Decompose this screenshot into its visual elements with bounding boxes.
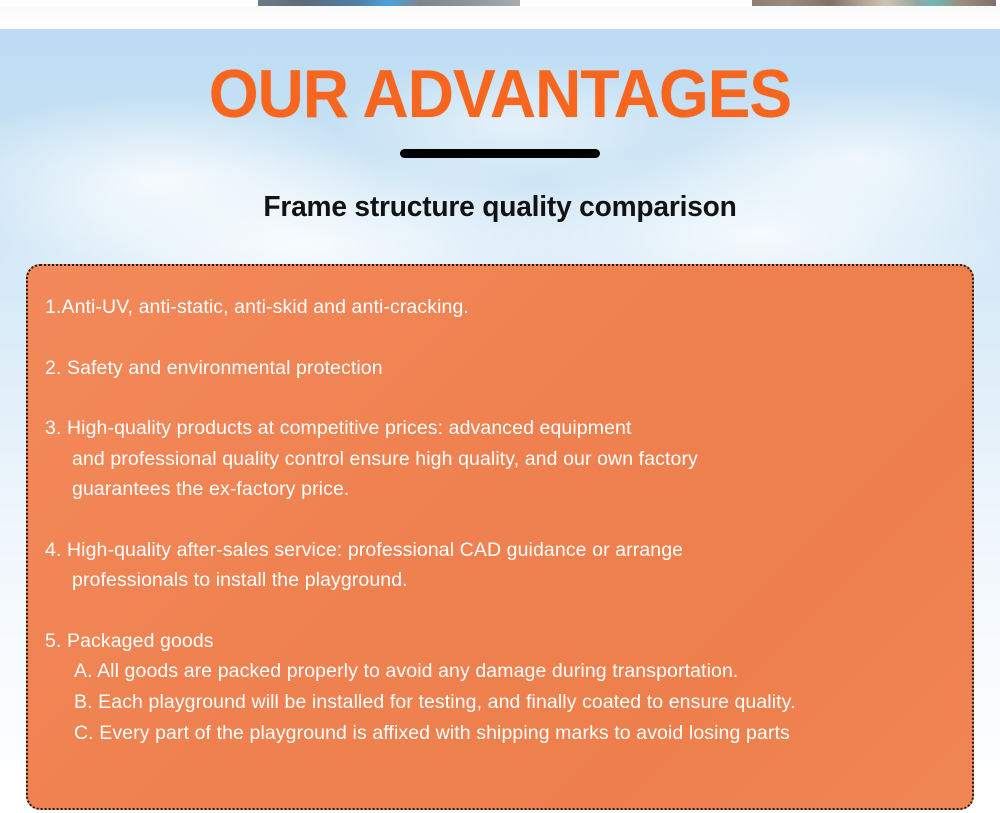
page-subtitle: Frame structure quality comparison <box>15 158 985 224</box>
advantage-line: professionals to install the playground. <box>45 565 952 596</box>
list-item: 3. High-quality products at competitive … <box>45 413 952 505</box>
top-strip-fade <box>0 6 1000 29</box>
top-image-strip-row <box>0 0 1000 29</box>
advantage-line: A. All goods are packed properly to avoi… <box>45 656 952 687</box>
advantage-line: B. Each playground will be installed for… <box>45 687 952 718</box>
advantage-line: and professional quality control ensure … <box>45 444 952 475</box>
list-item: 2. Safety and environmental protection <box>45 353 952 384</box>
banner-heading: OUR ADVANTAGES Frame structure quality c… <box>0 29 1000 224</box>
advantage-line: C. Every part of the playground is affix… <box>45 718 952 749</box>
advantage-line: 4. High-quality after-sales service: pro… <box>45 535 952 566</box>
advantage-line: 2. Safety and environmental protection <box>45 353 952 384</box>
list-item: 5. Packaged goodsA. All goods are packed… <box>45 626 952 750</box>
advantages-panel: 1.Anti-UV, anti-static, anti-skid and an… <box>26 264 974 810</box>
advantage-line: 3. High-quality products at competitive … <box>45 413 952 444</box>
advantage-line: guarantees the ex-factory price. <box>45 474 952 505</box>
advantages-list: 1.Anti-UV, anti-static, anti-skid and an… <box>45 292 952 749</box>
advantage-line: 5. Packaged goods <box>45 626 952 657</box>
page-title: OUR ADVANTAGES <box>30 29 970 131</box>
list-item: 1.Anti-UV, anti-static, anti-skid and an… <box>45 292 952 323</box>
title-divider <box>400 149 600 158</box>
advantage-line: 1.Anti-UV, anti-static, anti-skid and an… <box>45 292 952 323</box>
list-item: 4. High-quality after-sales service: pro… <box>45 535 952 596</box>
